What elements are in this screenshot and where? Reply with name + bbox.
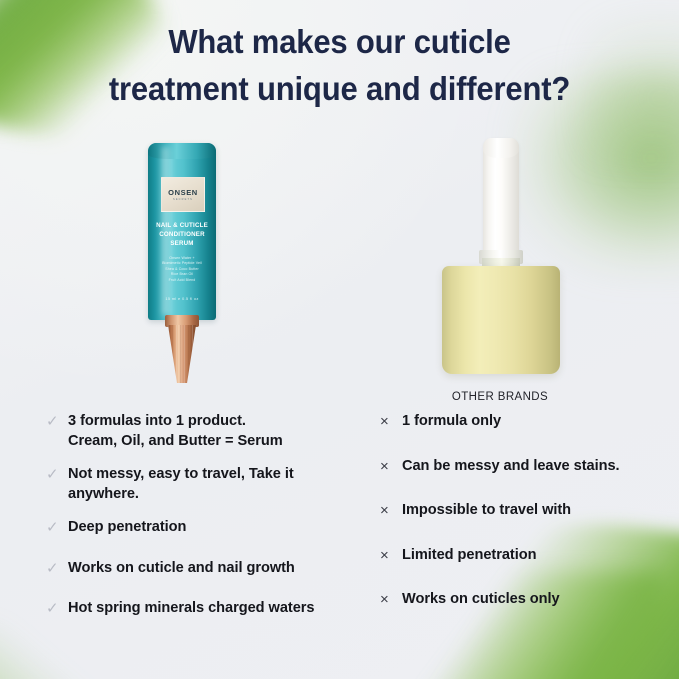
checkmark-icon: ✓ <box>46 465 68 484</box>
list-item-text: Limited penetration <box>402 546 660 566</box>
tube-label-line-2: CONDITIONER <box>148 230 216 239</box>
list-item-line: Hot spring minerals charged waters <box>68 599 356 619</box>
tube-label-line-1: NAIL & CUTICLE <box>148 221 216 230</box>
checkmark-icon: ✓ <box>46 518 68 537</box>
list-item-line: Cream, Oil, and Butter = Serum <box>68 432 356 452</box>
tube-brand-name: ONSEN <box>168 189 198 197</box>
tube-label-line-3: SERUM <box>148 239 216 248</box>
checkmark-icon: ✓ <box>46 599 68 618</box>
list-item: × Impossible to travel with <box>380 501 660 521</box>
our-product-benefits-list: ✓ 3 formulas into 1 product. Cream, Oil,… <box>46 412 356 640</box>
list-item-text: 1 formula only <box>402 412 660 432</box>
list-item-line: Works on cuticles only <box>402 590 660 610</box>
list-item: × Can be messy and leave stains. <box>380 457 660 477</box>
list-item-line: 3 formulas into 1 product. <box>68 412 356 432</box>
tube-product-label: NAIL & CUTICLE CONDITIONER SERUM <box>148 221 216 248</box>
list-item: × Limited penetration <box>380 546 660 566</box>
list-item-text: Impossible to travel with <box>402 501 660 521</box>
bottle-body <box>442 266 560 374</box>
page-title-line-2: treatment unique and different? <box>20 65 658 112</box>
list-item-text: Works on cuticle and nail growth <box>68 559 356 579</box>
list-item: ✓ Not messy, easy to travel, Take it any… <box>46 465 356 504</box>
list-item-line: Works on cuticle and nail growth <box>68 559 356 579</box>
list-item-text: Works on cuticles only <box>402 590 660 610</box>
other-brands-drawbacks-list: × 1 formula only × Can be messy and leav… <box>380 412 660 635</box>
tube-ingredient: Fruit Acid Blend <box>148 278 216 283</box>
checkmark-icon: ✓ <box>46 412 68 431</box>
infographic-canvas: What makes our cuticle treatment unique … <box>0 0 679 679</box>
list-item: ✓ 3 formulas into 1 product. Cream, Oil,… <box>46 412 356 451</box>
cross-icon: × <box>380 412 402 431</box>
tube-brand-logo: ONSEN SECRETS <box>161 177 205 212</box>
page-title-line-1: What makes our cuticle <box>20 18 658 65</box>
tube-body: ONSEN SECRETS NAIL & CUTICLE CONDITIONER… <box>148 143 216 320</box>
list-item-text: Deep penetration <box>68 518 356 538</box>
cross-icon: × <box>380 546 402 565</box>
checkmark-icon: ✓ <box>46 559 68 578</box>
list-item-line: anywhere. <box>68 485 356 505</box>
other-brands-caption: OTHER BRANDS <box>380 391 620 403</box>
list-item-text: Can be messy and leave stains. <box>402 457 660 477</box>
list-item: ✓ Deep penetration <box>46 518 356 538</box>
tube-net-volume: 15 ml e 0.5 fl oz <box>148 296 216 301</box>
tube-ingredients-list: Onsen Water + Biomimetic Peptide Veil Sh… <box>148 256 216 283</box>
tube-brand-subtitle: SECRETS <box>173 198 193 201</box>
list-item: ✓ Works on cuticle and nail growth <box>46 559 356 579</box>
cross-icon: × <box>380 501 402 520</box>
list-item-line: 1 formula only <box>402 412 660 432</box>
cross-icon: × <box>380 457 402 476</box>
list-item-line: Deep penetration <box>68 518 356 538</box>
list-item-text: Hot spring minerals charged waters <box>68 599 356 619</box>
cross-icon: × <box>380 590 402 609</box>
list-item-text: 3 formulas into 1 product. Cream, Oil, a… <box>68 412 356 451</box>
list-item-text: Not messy, easy to travel, Take it anywh… <box>68 465 356 504</box>
list-item: × Works on cuticles only <box>380 590 660 610</box>
list-item: ✓ Hot spring minerals charged waters <box>46 599 356 619</box>
list-item-line: Can be messy and leave stains. <box>402 457 660 477</box>
list-item-line: Limited penetration <box>402 546 660 566</box>
list-item: × 1 formula only <box>380 412 660 432</box>
bottle-cap-top <box>483 138 519 158</box>
product-comparison-images: ONSEN SECRETS NAIL & CUTICLE CONDITIONER… <box>0 126 679 406</box>
list-item-line: Not messy, easy to travel, Take it <box>68 465 356 485</box>
page-title: What makes our cuticle treatment unique … <box>20 18 658 112</box>
other-brand-bottle-image <box>438 138 563 378</box>
tube-cap-ridges <box>168 325 196 383</box>
list-item-line: Impossible to travel with <box>402 501 660 521</box>
onsen-serum-tube-image: ONSEN SECRETS NAIL & CUTICLE CONDITIONER… <box>148 143 216 343</box>
tube-shoulder <box>148 143 216 159</box>
